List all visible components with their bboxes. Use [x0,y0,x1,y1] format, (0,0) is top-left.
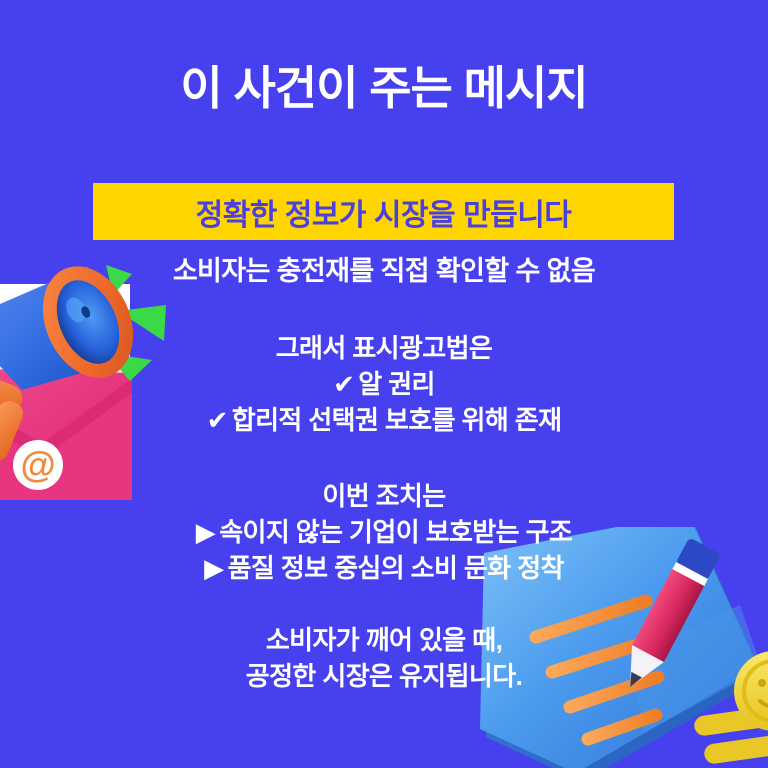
law-block-item-2-label: 합리적 선택권 보호를 위해 존재 [232,405,562,435]
triangle-right-icon: ▶ [196,514,215,550]
at-symbol-icon: @ [20,444,55,485]
clipboard-pencil-coins-illustration [478,527,768,768]
infographic-card: @ [0,0,768,768]
triangle-right-icon: ▶ [204,550,223,586]
page-title: 이 사건이 주는 메시지 [0,62,768,115]
check-icon: ✔ [333,366,354,402]
highlight-banner-text: 정확한 정보가 시장을 만듭니다 [196,190,572,234]
highlight-banner: 정확한 정보가 시장을 만듭니다 [93,183,674,240]
law-block-item-1-label: 알 권리 [358,369,435,399]
check-icon: ✔ [207,402,228,438]
megaphone-envelope-illustration: @ [0,248,172,503]
